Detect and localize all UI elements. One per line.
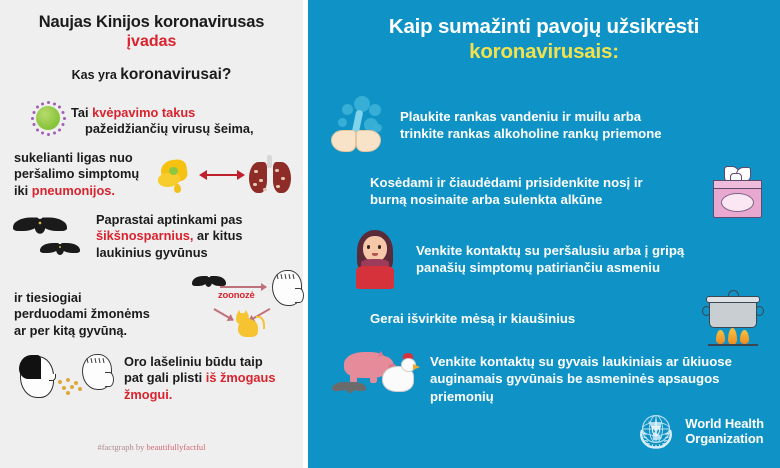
tip-cover-cough: Kosėdami ir čiaudėdami prisidenkite nosį…	[370, 163, 774, 219]
tip2-line2: burną nosinaite arba sulenkta alkūne	[370, 191, 708, 208]
bats-line2-suffix: ar kitus	[193, 228, 242, 243]
credit-brand: beautifullyfactful	[147, 442, 206, 452]
section-question: Kas yra koronavirusai?	[0, 53, 303, 84]
symptoms-line1: sukelianti ligas nuo	[14, 150, 154, 166]
left-block-symptoms: sukelianti ligas nuo peršalimo simptomų …	[14, 150, 299, 199]
who-logo-text: World Health Organization	[678, 417, 764, 446]
zoonosis-label: zoonozė	[218, 290, 255, 301]
symptoms-line2: peršalimo simptomų	[14, 166, 154, 182]
hand-washing-icon	[324, 96, 386, 154]
left-block-virus: Tai kvėpavimo takus pažeidžiančių virusų…	[30, 96, 295, 138]
question-emphasis: koronavirusai?	[120, 66, 231, 83]
tip-avoid-sick-people: Venkite kontaktų su peršalusiu arba į gr…	[348, 228, 774, 290]
cooking-pot-icon	[700, 290, 766, 348]
symptoms-line3-highlight: pneumonijos.	[32, 183, 115, 198]
left-block-droplets: Oro lašeliniu būdu taip pat gali plisti …	[14, 348, 304, 406]
symptoms-line3-prefix: iki	[14, 183, 32, 198]
tip3-line1: Venkite kontaktų su peršalusiu arba į gr…	[416, 242, 684, 259]
prevention-title-line2: koronavirusais:	[308, 39, 780, 64]
bats-line3: laukinius gyvūnus	[96, 245, 301, 261]
zoonosis-line3: ar per kitą gyvūną.	[14, 323, 159, 339]
bats-line2-highlight: šikšnosparnius,	[96, 228, 193, 243]
droplets-line2-prefix: pat gali plisti	[124, 370, 206, 385]
cat-icon	[232, 310, 266, 340]
tip5-line1: Venkite kontaktų su gyvais laukiniais ar…	[430, 353, 732, 370]
tip-avoid-live-animals: Venkite kontaktų su gyvais laukiniais ar…	[332, 348, 780, 410]
tissue-box-icon	[708, 163, 768, 219]
virus-text-line2: pažeidžiančių virusų šeima,	[71, 121, 254, 137]
who-text-line1: World Health	[685, 417, 764, 432]
infographic-poster: Naujas Kinijos koronavirusas įvadas Kas …	[0, 0, 780, 468]
credit-prefix: #factgraph by	[97, 442, 146, 452]
zoonosis-arrow-icon	[220, 286, 266, 288]
bats-icon	[16, 216, 94, 266]
droplets-line1: Oro lašeliniu būdu taip	[124, 354, 275, 370]
left-block-zoonosis: ir tiesiogiai perduodami žmonėms ar per …	[14, 290, 299, 339]
farm-animals-icon	[332, 348, 418, 410]
double-arrow-icon	[199, 168, 245, 182]
sick-person-icon	[348, 228, 402, 290]
zoonosis-diagram-icon: zoonozė	[192, 268, 304, 344]
tip-hand-washing: Plaukite rankas vandeniu ir muilu arba t…	[324, 96, 774, 154]
who-logo: World Health Organization	[634, 410, 764, 454]
virus-text-highlight: kvėpavimo takus	[92, 105, 195, 120]
who-text-line2: Organization	[685, 432, 764, 447]
prevention-title: Kaip sumažinti pavojų užsikrėsti koronav…	[308, 0, 780, 64]
virus-text-prefix: Tai	[71, 105, 92, 120]
page-subtitle: įvadas	[0, 32, 303, 53]
zoonosis-arrow-to-cat-icon	[214, 308, 234, 321]
prevention-title-line1: Kaip sumažinti pavojų užsikrėsti	[308, 14, 780, 39]
two-heads-droplets-icon	[14, 348, 124, 406]
tip-cook-food: Gerai išvirkite mėsą ir kiaušinius	[370, 290, 774, 348]
infected-head-icon	[20, 356, 54, 398]
nose-mucus-icon	[154, 154, 196, 196]
tip5-line2: auginamais gyvūnais be asmeninės apsaugo…	[430, 370, 732, 387]
zoonosis-line1: ir tiesiogiai	[14, 290, 159, 306]
receiving-head-icon	[82, 354, 112, 390]
tip4-line1: Gerai išvirkite mėsą ir kiaušinius	[370, 310, 700, 327]
tip5-line3: priemonių	[430, 388, 732, 405]
zoonosis-human-head-icon	[272, 270, 302, 306]
question-prefix: Kas yra	[72, 68, 117, 82]
who-emblem-icon	[634, 410, 678, 454]
coronavirus-icon	[30, 100, 66, 136]
droplets-line2-highlight: iš žmogaus	[206, 370, 276, 385]
credit-line: #factgraph by beautifullyfactful	[0, 442, 303, 452]
tip1-line2: trinkite rankas alkoholine rankų priemon…	[400, 125, 662, 142]
page-title: Naujas Kinijos koronavirusas	[0, 0, 303, 32]
droplets-line3: žmogui.	[124, 387, 275, 403]
droplets-icon	[58, 378, 84, 396]
bats-line1: Paprastai aptinkami pas	[96, 212, 301, 228]
right-panel: Kaip sumažinti pavojų užsikrėsti koronav…	[308, 0, 780, 468]
tip2-line1: Kosėdami ir čiaudėdami prisidenkite nosį…	[370, 174, 708, 191]
left-block-bats: Paprastai aptinkami pas šikšnosparnius, …	[96, 212, 301, 261]
lungs-icon	[248, 155, 292, 195]
zoonosis-line2: perduodami žmonėms	[14, 306, 159, 322]
tip1-line1: Plaukite rankas vandeniu ir muilu arba	[400, 108, 662, 125]
tip3-line2: panašių simptomų patiriančiu asmeniu	[416, 259, 684, 276]
left-panel: Naujas Kinijos koronavirusas įvadas Kas …	[0, 0, 303, 468]
